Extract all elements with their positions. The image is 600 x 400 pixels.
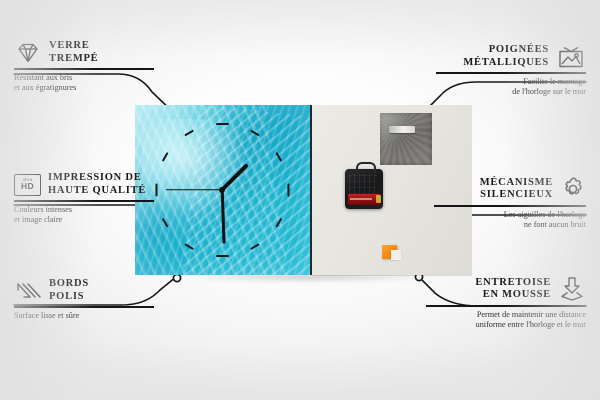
- callout-caption: Facilite le montage de l'horloge sur le …: [436, 77, 586, 97]
- foam-spacer: [382, 245, 397, 259]
- clock-mechanism: [345, 169, 383, 209]
- clock-hub: [219, 187, 225, 193]
- callout-divider: [14, 306, 154, 308]
- callout-divider: [434, 205, 586, 207]
- hour-marker: [184, 244, 193, 250]
- foam-spacer-icon: [558, 276, 586, 302]
- title-line-1: VERRE: [49, 40, 98, 53]
- hour-marker: [155, 184, 157, 197]
- callout-bords-polis: BORDS POLIS Surface lisse et sûre: [14, 278, 154, 321]
- callout-entretoise-en-mousse: ENTRETOISE EN MOUSSE Permet de maintenir…: [426, 276, 586, 330]
- hour-marker: [184, 130, 193, 136]
- caption-line-1: Couleurs intenses: [14, 205, 154, 215]
- callout-header: ENTRETOISE EN MOUSSE: [426, 276, 586, 302]
- minute-hand: [220, 190, 225, 244]
- callout-divider: [436, 72, 586, 74]
- callout-caption: Les aiguilles de l'horloge ne font aucun…: [434, 210, 586, 230]
- title-line-2: EN MOUSSE: [475, 289, 551, 302]
- metal-hanger-plate: [380, 113, 432, 165]
- callout-poignees-metalliques: POIGNÉES MÉTALLIQUES Facilite le montage…: [436, 44, 586, 97]
- title-line-2: POLIS: [49, 291, 89, 304]
- caption-line-2: ne font aucun bruit: [434, 220, 586, 230]
- callout-caption: Résistant aux bris et aux égratignures: [14, 73, 154, 93]
- callout-caption: Couleurs intenses et image claire: [14, 205, 154, 225]
- callout-divider: [14, 200, 154, 202]
- gear-icon: [560, 176, 586, 202]
- caption-line-1: Résistant aux bris: [14, 73, 154, 83]
- callout-header: ultraHD IMPRESSION DE HAUTE QUALITÉ: [14, 172, 154, 197]
- caption-line-1: Les aiguilles de l'horloge: [434, 210, 586, 220]
- second-hand: [166, 189, 222, 190]
- hour-marker: [216, 255, 229, 257]
- callout-divider: [426, 305, 586, 307]
- title-line-1: BORDS: [49, 278, 89, 291]
- title-line-2: SILENCIEUX: [480, 189, 553, 202]
- callout-divider: [14, 68, 154, 70]
- caption-line-2: de l'horloge sur le mur: [436, 87, 586, 97]
- product-image: [135, 105, 472, 277]
- clock-dial: [135, 105, 310, 275]
- infographic-canvas: VERRE TREMPÉ Résistant aux bris et aux é…: [0, 0, 600, 400]
- clock-front-panel: [135, 105, 314, 275]
- hour-marker: [216, 123, 229, 125]
- callout-header: VERRE TREMPÉ: [14, 40, 154, 65]
- hour-marker: [162, 218, 168, 227]
- callout-caption: Permet de maintenir une distance uniform…: [426, 310, 586, 330]
- callout-impression-haute-qualite: ultraHD IMPRESSION DE HAUTE QUALITÉ Coul…: [14, 172, 154, 225]
- title-line-2: MÉTALLIQUES: [463, 57, 549, 70]
- title-line-1: POIGNÉES: [463, 44, 549, 57]
- caption-line-1: Facilite le montage: [436, 77, 586, 87]
- caption-line-1: Permet de maintenir une distance: [426, 310, 586, 320]
- callout-verre-trempe: VERRE TREMPÉ Résistant aux bris et aux é…: [14, 40, 154, 93]
- caption-line-1: Surface lisse et sûre: [14, 311, 154, 321]
- title-line-1: IMPRESSION DE: [48, 172, 146, 185]
- ultra-hd-icon: ultraHD: [14, 174, 41, 196]
- callout-header: POIGNÉES MÉTALLIQUES: [436, 44, 586, 69]
- caption-line-2: et image claire: [14, 215, 154, 225]
- hour-marker: [276, 152, 282, 161]
- callout-title: POIGNÉES MÉTALLIQUES: [463, 44, 549, 69]
- callout-title: VERRE TREMPÉ: [49, 40, 98, 65]
- hour-hand: [221, 163, 249, 191]
- callout-title: IMPRESSION DE HAUTE QUALITÉ: [48, 172, 146, 197]
- callout-title: ENTRETOISE EN MOUSSE: [475, 277, 551, 302]
- diamond-icon: [14, 42, 42, 64]
- hour-marker: [250, 244, 259, 250]
- hour-marker: [162, 152, 168, 161]
- callout-header: BORDS POLIS: [14, 278, 154, 303]
- hour-marker: [276, 218, 282, 227]
- title-line-2: HAUTE QUALITÉ: [48, 185, 146, 198]
- polished-edges-icon: [14, 281, 42, 301]
- callout-title: MÉCANISME SILENCIEUX: [480, 177, 553, 202]
- hour-marker: [287, 184, 289, 197]
- wall-mount-icon: [556, 45, 586, 69]
- callout-mecanisme-silencieux: MÉCANISME SILENCIEUX Les aiguilles de l'…: [434, 176, 586, 230]
- title-line-1: MÉCANISME: [480, 177, 553, 190]
- callout-header: MÉCANISME SILENCIEUX: [434, 176, 586, 202]
- caption-line-2: uniforme entre l'horloge et le mur: [426, 320, 586, 330]
- hour-marker: [250, 130, 259, 136]
- title-line-2: TREMPÉ: [49, 53, 98, 66]
- callout-title: BORDS POLIS: [49, 278, 89, 303]
- title-line-1: ENTRETOISE: [475, 277, 551, 290]
- product-shadow: [143, 273, 473, 287]
- callout-caption: Surface lisse et sûre: [14, 311, 154, 321]
- caption-line-2: et aux égratignures: [14, 83, 154, 93]
